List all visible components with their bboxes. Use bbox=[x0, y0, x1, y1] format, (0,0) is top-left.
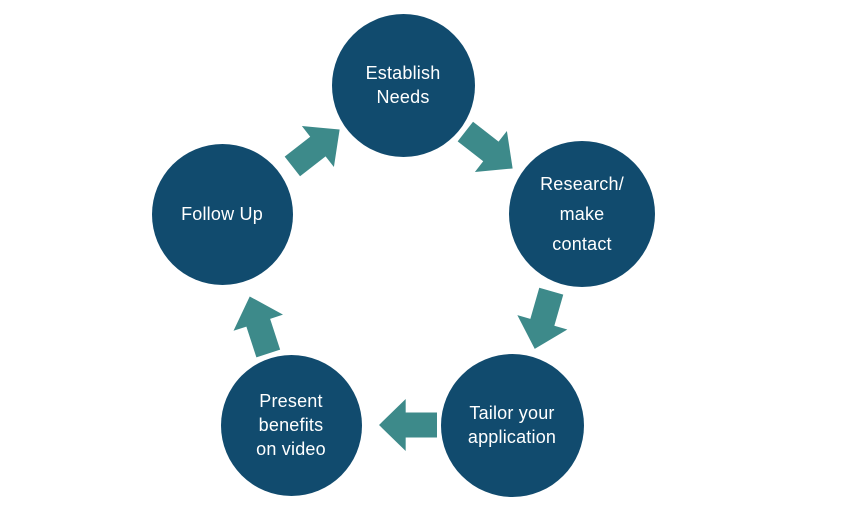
cycle-node-label: Tailor your application bbox=[458, 401, 566, 449]
cycle-node-tailor-your-application[interactable]: Tailor your application bbox=[441, 354, 584, 497]
arrow-icon bbox=[225, 288, 293, 361]
cycle-node-label: Follow Up bbox=[171, 202, 273, 226]
cycle-node-establish-needs[interactable]: Establish Needs bbox=[332, 14, 475, 157]
cycle-node-label: Present benefits on video bbox=[246, 389, 336, 461]
cycle-node-follow-up[interactable]: Follow Up bbox=[152, 144, 293, 285]
diagram-canvas: Establish NeedsResearch/ make contactTai… bbox=[0, 0, 854, 513]
cycle-node-research-make-contact[interactable]: Research/ make contact bbox=[509, 141, 655, 287]
arrow-icon bbox=[379, 399, 437, 451]
cycle-node-present-benefits-on-video[interactable]: Present benefits on video bbox=[221, 355, 362, 496]
cycle-node-label: Research/ make contact bbox=[530, 169, 634, 259]
arrow-icon bbox=[510, 284, 577, 356]
cycle-node-label: Establish Needs bbox=[356, 61, 451, 109]
